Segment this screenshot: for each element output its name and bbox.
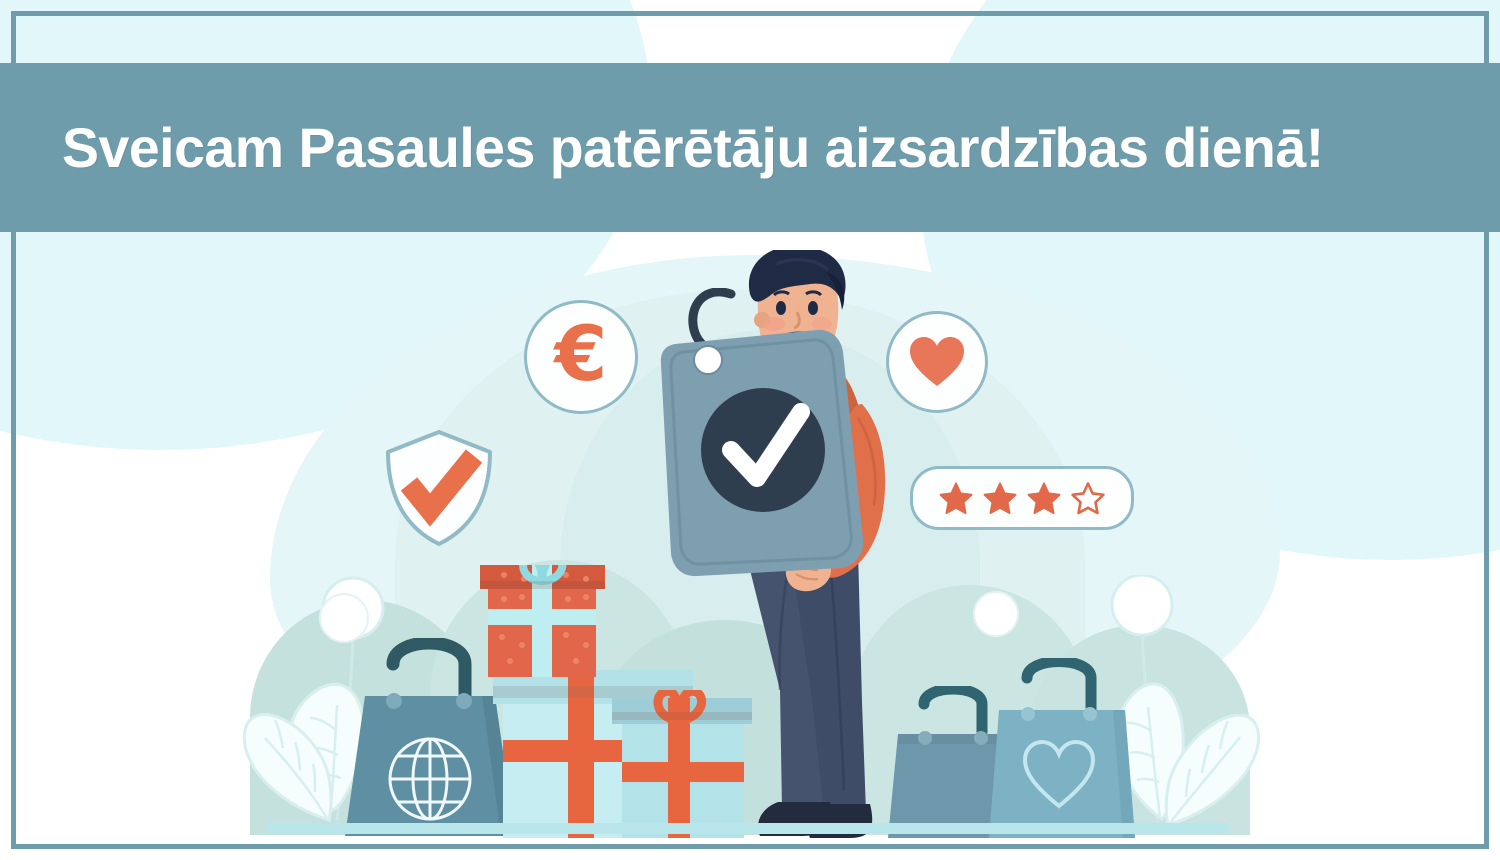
euro-icon: € [555, 316, 608, 392]
globe-icon [390, 739, 470, 819]
page-title: Sveicam Pasaules patērētāju aizsardzības… [62, 115, 1324, 180]
ground-bar [265, 823, 1230, 834]
star-filled-icon [983, 482, 1017, 515]
shopping-bag-heart [985, 658, 1145, 838]
bubble-circle-left [318, 592, 370, 644]
poster-canvas: € [0, 0, 1500, 860]
star-empty-icon [1071, 482, 1105, 515]
euro-badge: € [524, 300, 638, 414]
price-tag [645, 288, 875, 578]
shield-check-badge [380, 428, 498, 548]
bubble-circle-right [972, 590, 1020, 638]
star-filled-icon [1027, 482, 1061, 515]
headline-banner: Sveicam Pasaules patērētāju aizsardzības… [0, 63, 1500, 232]
gift-box-red [480, 565, 605, 677]
